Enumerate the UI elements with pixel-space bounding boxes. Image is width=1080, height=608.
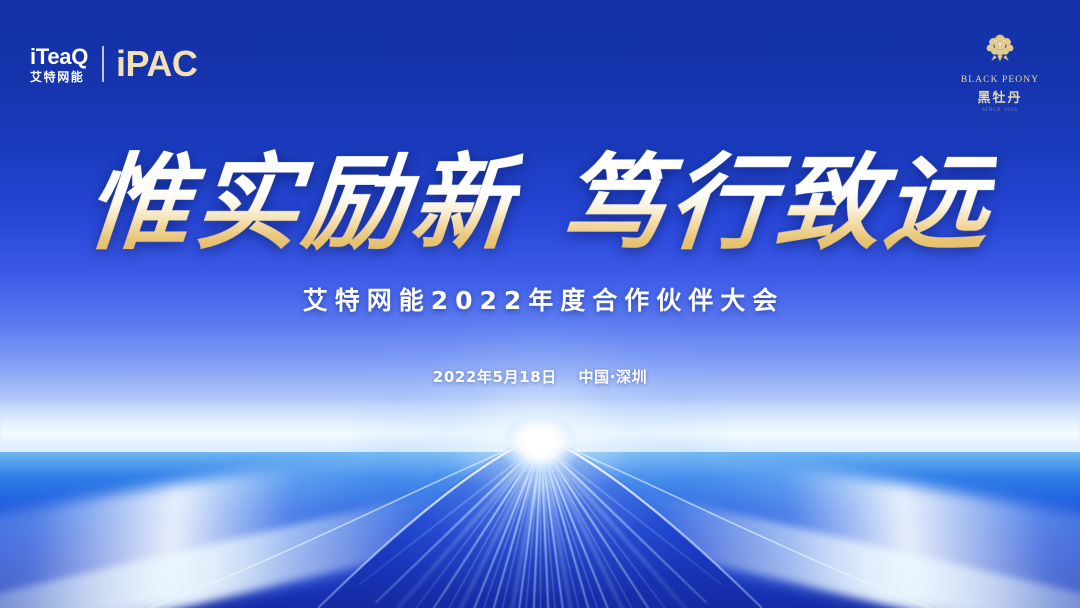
headline-phrase-1: 惟实励新 [82, 147, 524, 259]
event-dateline: 2022年5月18日 中国·深圳 [0, 366, 1080, 387]
iteaq-logo[interactable]: iTeaQ 艾特网能 [30, 46, 88, 83]
peony-flower-icon [979, 26, 1021, 68]
event-date: 2022年5月18日 [433, 368, 557, 386]
headline-slogan: 惟实励新 笃行致远 [0, 147, 1080, 259]
event-subtitle: 艾特网能2022年度合作伙伴大会 [0, 281, 1080, 317]
event-location: 中国·深圳 [579, 368, 648, 386]
iteaq-logo-cn: 艾特网能 [30, 71, 88, 83]
ipac-logo: iPAC [116, 46, 197, 82]
brand-logo-lockup[interactable]: iTeaQ 艾特网能 iPAC [30, 41, 197, 87]
road-body [320, 440, 760, 608]
conference-key-visual-poster: iTeaQ 艾特网能 iPAC [0, 0, 1080, 608]
partner-name-en: BLACK PEONY [954, 75, 1046, 85]
iteaq-logo-en: iTeaQ [30, 46, 88, 68]
partner-tagline: SINCE 1956 [954, 108, 1046, 113]
road-shape-svg [0, 430, 1080, 608]
partner-name-cn: 黑牡丹 [954, 87, 1046, 106]
headline-phrase-2: 笃行致远 [557, 147, 999, 259]
perspective-road [0, 430, 1080, 608]
logo-divider [102, 46, 104, 82]
partner-logo-black-peony[interactable]: BLACK PEONY 黑牡丹 SINCE 1956 [954, 26, 1046, 113]
